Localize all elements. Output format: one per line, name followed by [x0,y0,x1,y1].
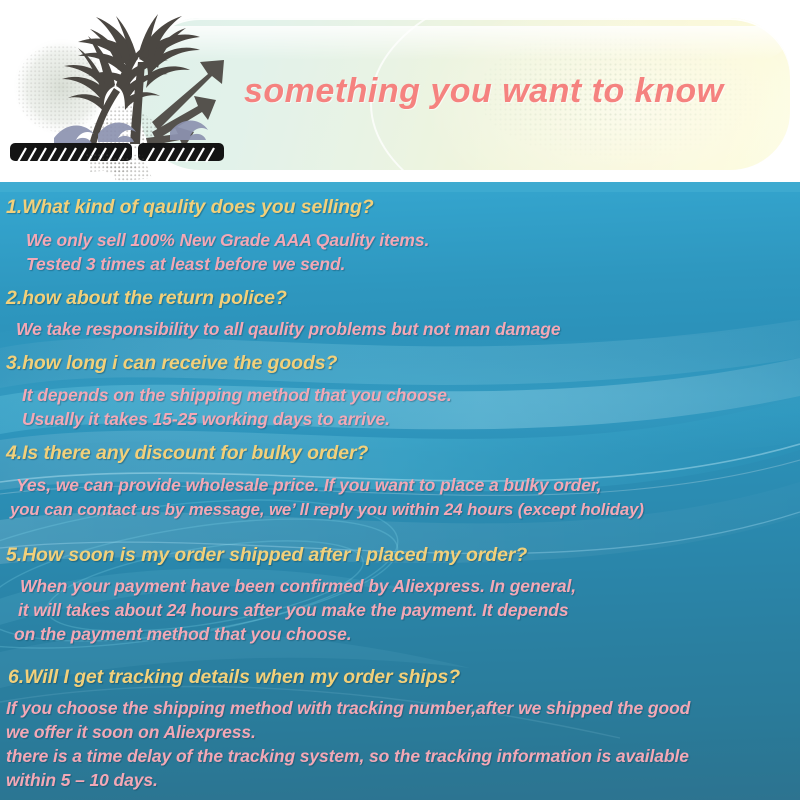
faq-question-3: 3.how long i can receive the goods? [6,352,337,375]
faq-answer-1-2: Tested 3 times at least before we send. [26,254,345,275]
faq-answer-2-1: We take responsibility to all qaulity pr… [16,319,561,340]
faq-answer-4-2: you can contact us by message, we’ ll re… [10,500,644,520]
page-header: something you want to know [0,0,800,182]
faq-answer-6-4: within 5 – 10 days. [6,770,158,791]
faq-answer-3-1: It depends on the shipping method that y… [22,385,452,406]
faq-answer-5-3: on the payment method that you choose. [14,624,351,645]
faq-question-6: 6.Will I get tracking details when my or… [8,666,460,689]
faq-answer-6-3: there is a time delay of the tracking sy… [6,746,689,767]
faq-body: 1.What kind of qaulity does you selling?… [0,182,800,800]
faq-page: something you want to know [0,0,800,800]
faq-answer-3-2: Usually it takes 15-25 working days to a… [22,409,390,430]
faq-question-2: 2.how about the return police? [6,287,287,310]
faq-question-5: 5.How soon is my order shipped after I p… [6,544,527,567]
faq-answer-5-1: When your payment have been confirmed by… [20,576,576,597]
faq-answer-5-2: it will takes about 24 hours after you m… [18,600,569,621]
faq-answer-6-2: we offer it soon on Aliexpress. [6,722,256,743]
palm-tree-beach-logo [2,2,240,182]
faq-question-1: 1.What kind of qaulity does you selling? [6,196,374,219]
faq-answer-4-1: Yes, we can provide wholesale price. If … [16,475,601,496]
faq-question-4: 4.Is there any discount for bulky order? [6,442,368,465]
page-title: something you want to know [244,72,784,111]
faq-answer-6-1: If you choose the shipping method with t… [6,698,690,719]
faq-answer-1-1: We only sell 100% New Grade AAA Qaulity … [26,230,429,251]
